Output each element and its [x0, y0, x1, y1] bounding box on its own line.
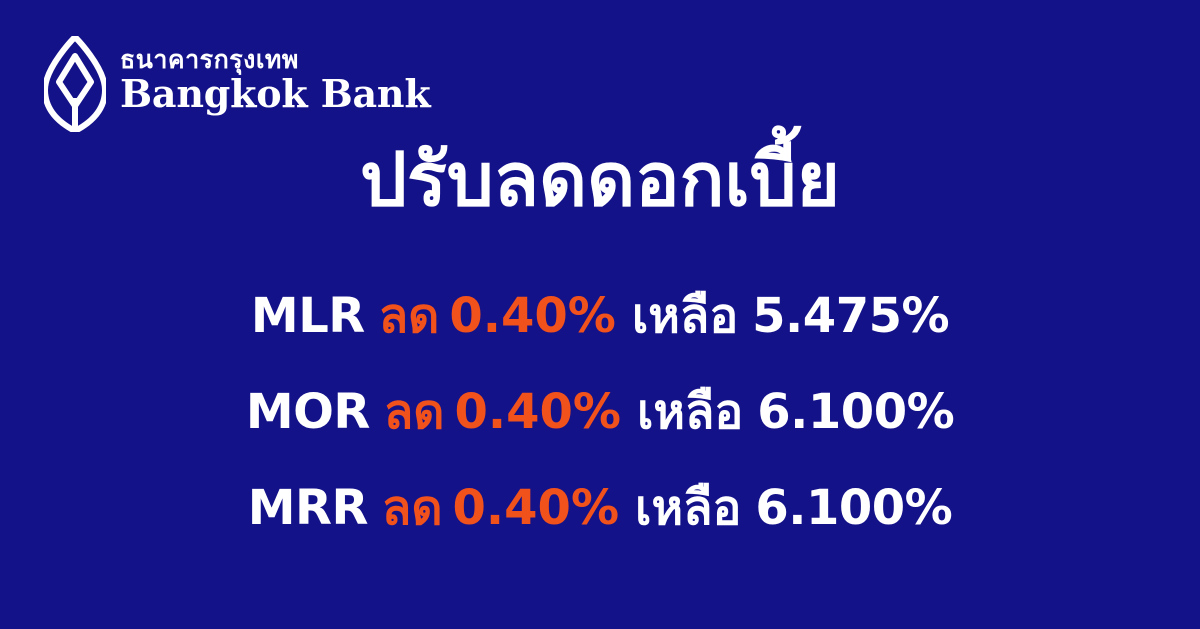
logo-english-name: Bangkok Bank [120, 74, 430, 114]
rate-remain-label: เหลือ [635, 484, 741, 532]
bodhi-leaf-icon [44, 36, 106, 132]
promo-banner: ธนาคารกรุงเทพ Bangkok Bank ปรับลดดอกเบี้… [0, 0, 1200, 629]
rate-cut-label: ลด [379, 292, 440, 340]
rate-cut-value: 0.40% [453, 484, 620, 532]
rate-row-mrr: MRR ลด 0.40% เหลือ 6.100% [0, 460, 1200, 556]
rate-code: MOR [246, 388, 370, 436]
rate-cut-value: 0.40% [454, 388, 621, 436]
headline: ปรับลดดอกเบี้ย [0, 143, 1200, 217]
bangkok-bank-logo: ธนาคารกรุงเทพ Bangkok Bank [44, 36, 430, 132]
rate-code: MRR [248, 484, 368, 532]
logo-thai-name: ธนาคารกรุงเทพ [120, 47, 430, 72]
rate-remain-value: 6.100% [755, 484, 952, 532]
rate-remain-value: 6.100% [757, 388, 954, 436]
rate-remain-value: 5.475% [752, 292, 949, 340]
rate-row-mlr: MLR ลด 0.40% เหลือ 5.475% [0, 268, 1200, 364]
rate-remain-label: เหลือ [632, 292, 738, 340]
rate-remain-label: เหลือ [637, 388, 743, 436]
rate-row-mor: MOR ลด 0.40% เหลือ 6.100% [0, 364, 1200, 460]
rate-list: MLR ลด 0.40% เหลือ 5.475% MOR ลด 0.40% เ… [0, 268, 1200, 556]
rate-cut-label: ลด [382, 484, 443, 532]
logo-wordmark: ธนาคารกรุงเทพ Bangkok Bank [120, 36, 430, 114]
rate-cut-label: ลด [384, 388, 445, 436]
rate-cut-value: 0.40% [449, 292, 616, 340]
rate-code: MLR [251, 292, 365, 340]
